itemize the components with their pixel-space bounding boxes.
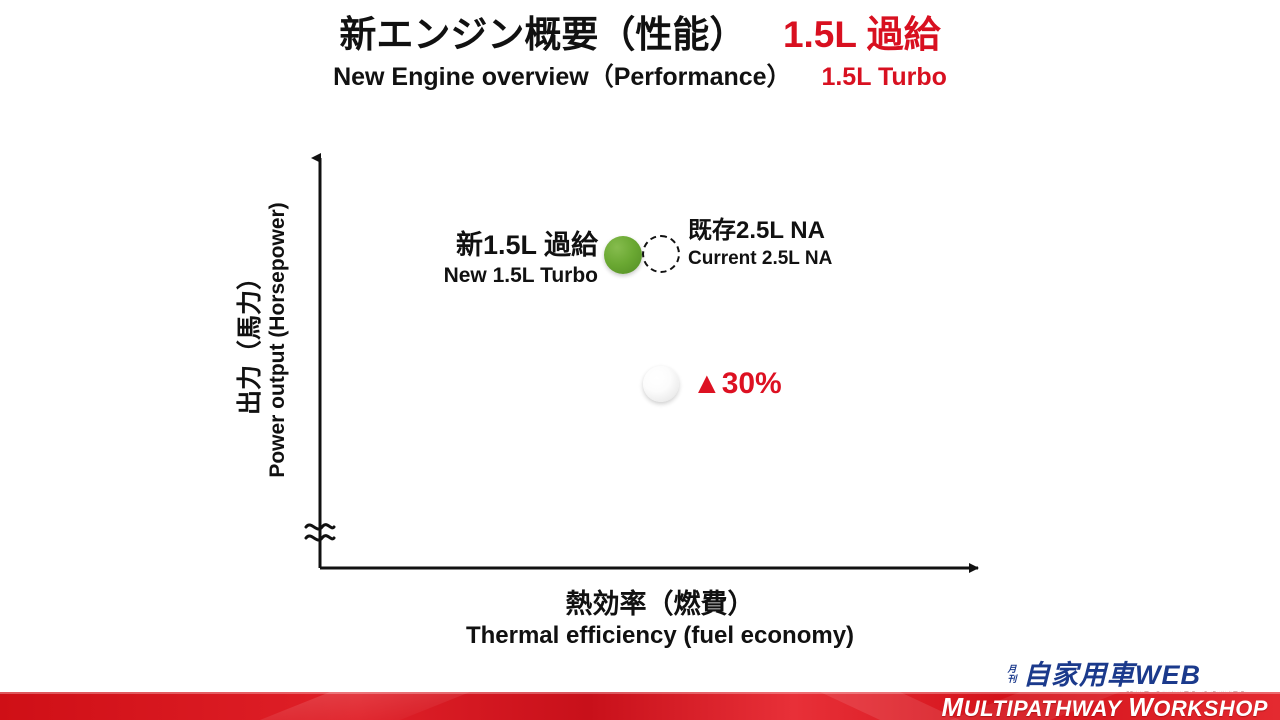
label-current-na: 既存2.5L NA Current 2.5L NA <box>688 216 832 271</box>
banner-m: M <box>942 692 964 720</box>
y-axis-label: 出力（馬力） Power output (Horsepower) <box>236 190 292 490</box>
scatter-chart: 出力（馬力） Power output (Horsepower) 熱効率（燃費）… <box>0 0 1280 700</box>
y-axis-label-en: Power output (Horsepower) <box>265 190 290 490</box>
banner-workshop: ORKSHOP <box>1153 696 1268 720</box>
banner-w: W <box>1128 692 1153 720</box>
logo-publication-name: 自家用車WEB <box>1023 660 1201 690</box>
banner-title: MULTIPATHWAY WORKSHOP <box>942 694 1268 720</box>
label-new-turbo-en: New 1.5L Turbo <box>318 262 598 289</box>
banner-ultipathway: ULTIPATHWAY <box>964 696 1122 720</box>
data-point-efficiency-gain <box>643 366 679 402</box>
y-axis-label-jp: 出力（馬力） <box>236 190 265 490</box>
label-current-na-en: Current 2.5L NA <box>688 246 832 271</box>
x-axis-label: 熱効率（燃費） Thermal efficiency (fuel economy… <box>330 588 990 651</box>
label-new-turbo-jp: 新1.5L 過給 <box>318 228 598 262</box>
data-point-new-turbo <box>604 236 642 274</box>
label-new-turbo: 新1.5L 過給 New 1.5L Turbo <box>318 228 598 289</box>
logo-monthly-label: 月刊 <box>1004 664 1020 684</box>
label-current-na-jp: 既存2.5L NA <box>688 216 832 246</box>
efficiency-gain-label: ▲30% <box>692 367 782 401</box>
x-axis-label-jp: 熱効率（燃費） <box>330 588 990 621</box>
bottom-banner: MULTIPATHWAY WORKSHOP <box>0 692 1280 720</box>
x-axis-label-en: Thermal efficiency (fuel economy) <box>330 621 990 651</box>
data-point-current-na <box>642 235 680 273</box>
